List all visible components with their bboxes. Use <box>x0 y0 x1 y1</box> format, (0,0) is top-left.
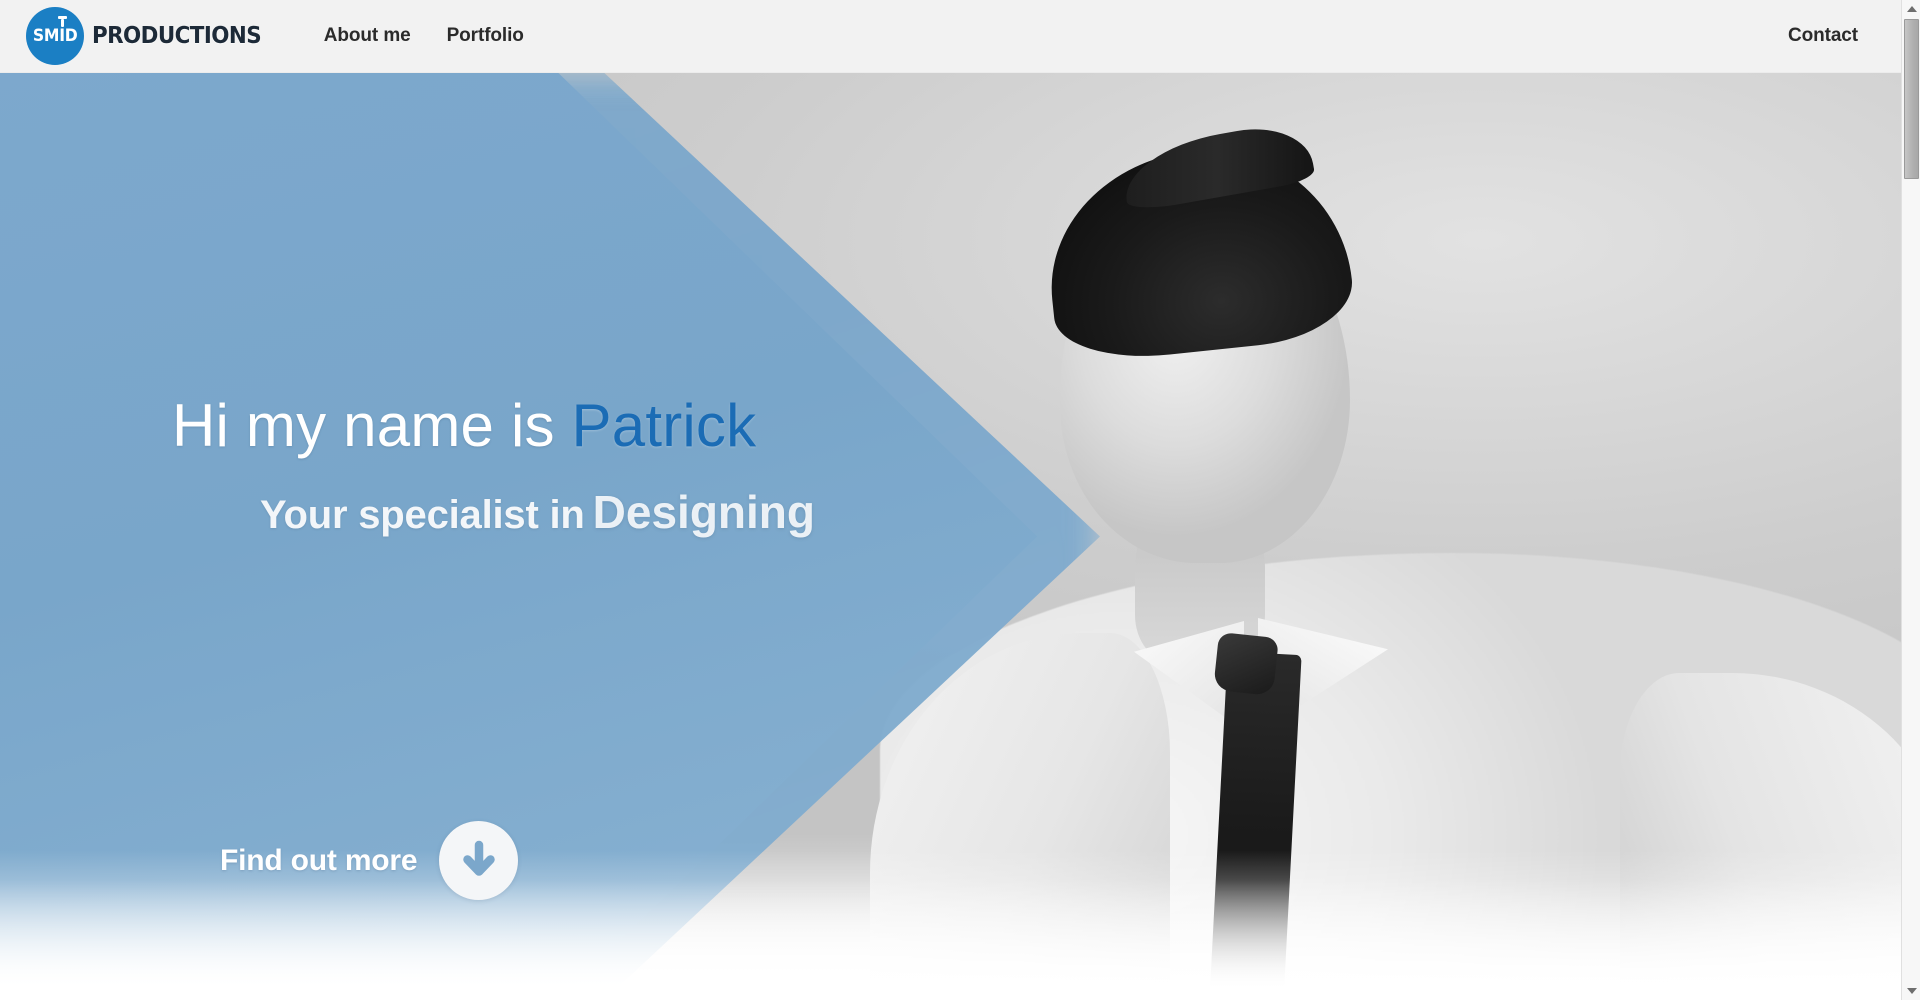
arrow-down-circle-icon[interactable] <box>439 821 518 900</box>
top-navigation-bar: SMID PRODUCTIONS About me Portfolio Cont… <box>0 0 1901 73</box>
smid-logo-icon: SMID <box>26 7 84 65</box>
hero-headline-name: Patrick <box>572 392 757 459</box>
hero-subline-rotating-word: Designing <box>593 485 815 539</box>
triangle-up-icon <box>1907 6 1917 12</box>
find-out-more-label: Find out more <box>220 844 417 878</box>
page-root: Hi my name is Patrick Your specialist in… <box>0 0 1920 1000</box>
scroll-up-button[interactable] <box>1902 0 1920 18</box>
brand-mark-pin-icon <box>61 19 64 27</box>
hero-content: Hi my name is Patrick Your specialist in… <box>0 73 1180 1000</box>
find-out-more-button[interactable]: Find out more <box>220 821 518 900</box>
nav-item-portfolio[interactable]: Portfolio <box>447 25 524 47</box>
brand-wordmark: PRODUCTIONS <box>92 23 261 49</box>
primary-nav: About me Portfolio <box>324 25 524 47</box>
portrait-necktie-knot <box>1213 632 1279 696</box>
hero-subline: Your specialist in Designing <box>260 485 815 539</box>
nav-item-about-me[interactable]: About me <box>324 25 411 47</box>
vertical-scrollbar[interactable] <box>1901 0 1920 1000</box>
hero-headline-prefix: Hi my name is <box>172 392 572 459</box>
scrollbar-thumb[interactable] <box>1904 19 1919 179</box>
brand-logo-link[interactable]: SMID PRODUCTIONS <box>26 7 274 65</box>
nav-item-contact[interactable]: Contact <box>1788 25 1858 47</box>
hero-headline: Hi my name is Patrick <box>172 391 756 460</box>
triangle-down-icon <box>1907 988 1917 994</box>
hero-section: Hi my name is Patrick Your specialist in… <box>0 73 1901 1000</box>
secondary-nav: Contact <box>1788 25 1858 47</box>
hero-subline-static: Your specialist in <box>260 493 585 538</box>
brand-mark-label: SMID <box>33 26 78 46</box>
scroll-down-button[interactable] <box>1902 982 1920 1000</box>
